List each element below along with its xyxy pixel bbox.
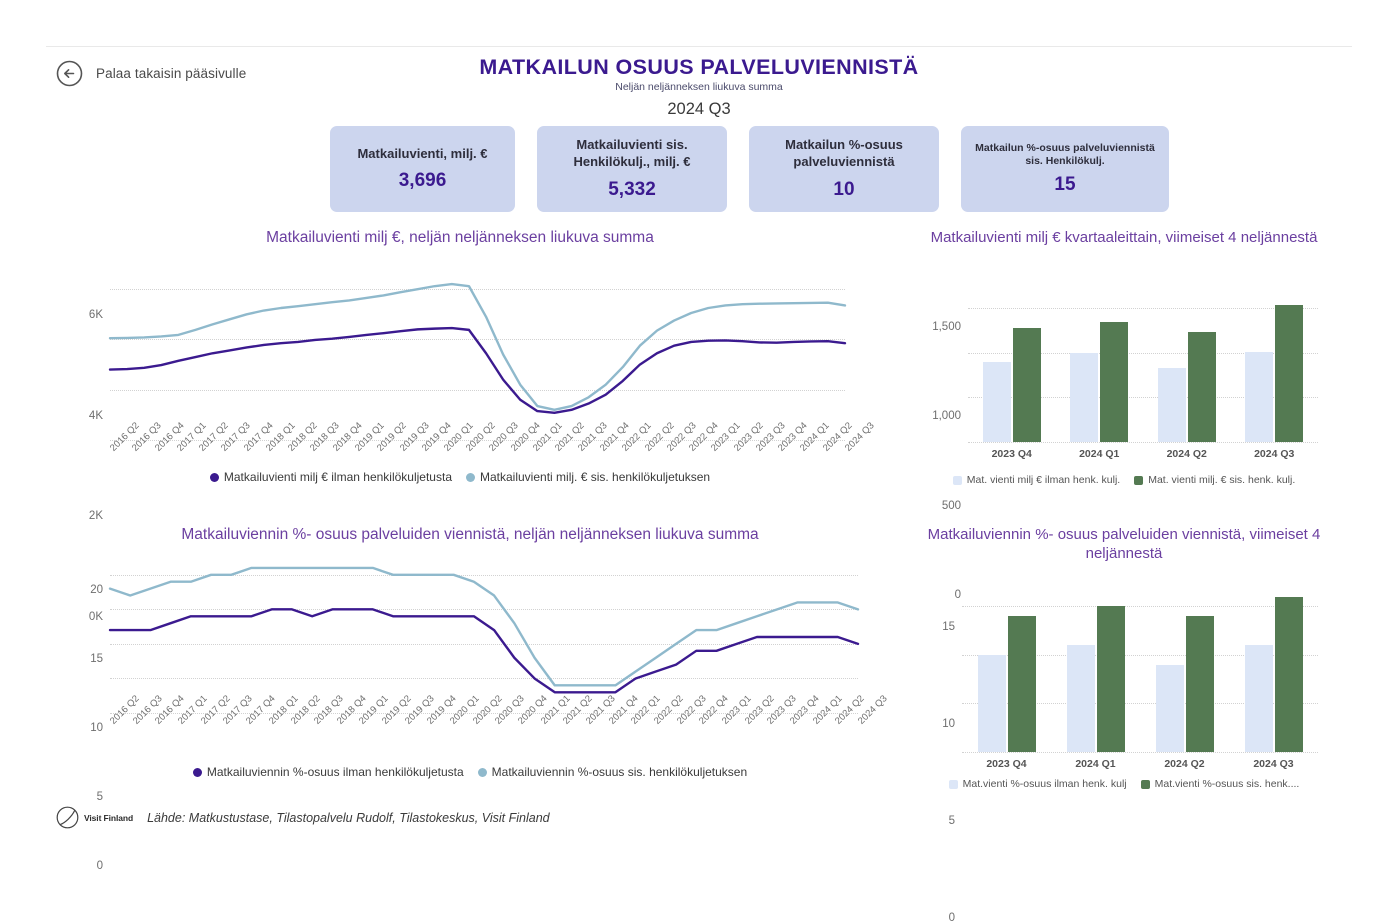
visit-finland-logo: Visit Finland [56,806,133,829]
line-series [110,609,858,692]
bar-group [1158,332,1216,442]
legend-item[interactable]: Matkailuviennin %-osuus sis. henkilökulj… [478,765,747,779]
bar-series-group [962,587,1318,752]
bar[interactable] [1013,328,1041,442]
legend-label: Matkailuvienti milj € ilman henkilökulje… [224,470,452,484]
chart-panel-export-bar: Matkailuvienti milj € kvartaaleittain, v… [900,228,1348,498]
bar-group [1245,305,1303,442]
bar[interactable] [1245,645,1273,752]
kpi-value: 10 [833,179,854,201]
bar[interactable] [1100,322,1128,442]
y-axis-tick-label: 2K [89,510,103,522]
legend-swatch-icon [949,780,958,789]
x-axis-tick-label: 2024 Q2 [1143,448,1231,460]
x-axis-tick-label: 2023 Q4 [968,448,1056,460]
bar[interactable] [1097,606,1125,752]
bar[interactable] [1245,352,1273,442]
bar[interactable] [1070,353,1098,442]
legend-swatch-icon [953,476,962,485]
page-title: MATKAILUN OSUUS PALVELUVIENNISTÄ [0,56,1398,80]
legend-label: Matkailuvienti milj. € sis. henkilökulje… [480,470,710,484]
header-divider [46,46,1352,47]
bar[interactable] [978,655,1006,752]
bar-group [1067,606,1125,752]
bar[interactable] [1186,616,1214,752]
kpi-value: 5,332 [608,179,656,201]
chart-title: Matkailuvienti milj € kvartaaleittain, v… [900,228,1348,247]
y-axis-tick-label: 20 [90,584,103,596]
chart-legend: Mat.vienti %-osuus ilman henk. kuljMat.v… [900,778,1348,790]
line-series-group [110,561,858,713]
visit-finland-wordmark: Visit Finland [84,813,133,823]
bar[interactable] [1008,616,1036,752]
line-series [110,284,845,410]
chart-title: Matkailuviennin %- osuus palveluiden vie… [900,525,1348,563]
y-axis-tick-label: 15 [90,653,103,665]
y-axis-tick-label: 15 [942,621,955,633]
y-axis-tick-label: 500 [942,500,961,512]
kpi-card-share-incl-transport[interactable]: Matkailun %-osuus palveluviennistä sis. … [961,126,1169,212]
legend-swatch-icon [478,768,487,777]
chart-legend: Matkailuviennin %-osuus ilman henkilökul… [60,765,880,779]
legend-label: Mat. vienti milj. € sis. henk. kulj. [1148,474,1295,486]
source-note: Lähde: Matkustustase, Tilastopalvelu Rud… [147,811,550,825]
bar-group [1156,616,1214,752]
plot-area-export-line: 0K2K4K6K [110,264,845,440]
bar[interactable] [1158,368,1186,442]
plot-area-share-line: 05101520 [110,561,858,713]
legend-item[interactable]: Mat. vienti milj € ilman henk. kulj. [953,474,1120,486]
line-series-group [110,264,845,440]
chart-title: Matkailuviennin %- osuus palveluiden vie… [60,525,880,545]
kpi-card-group: Matkailuvienti, milj. € 3,696 Matkailuvi… [330,126,1169,212]
page-header: MATKAILUN OSUUS PALVELUVIENNISTÄ Neljän … [0,56,1398,119]
legend-swatch-icon [1134,476,1143,485]
footer: Visit Finland Lähde: Matkustustase, Tila… [56,806,550,829]
legend-label: Matkailuviennin %-osuus ilman henkilökul… [207,765,464,779]
y-axis-tick-label: 4K [89,410,103,422]
chart-title: Matkailuvienti milj €, neljän neljänneks… [60,228,860,248]
y-axis-tick-label: 10 [942,718,955,730]
legend-label: Mat.vienti %-osuus ilman henk. kulj [963,778,1127,790]
period-label: 2024 Q3 [0,100,1398,119]
bar-group [1070,322,1128,442]
y-axis-tick-label: 0 [97,860,103,872]
kpi-card-export[interactable]: Matkailuvienti, milj. € 3,696 [330,126,515,212]
kpi-card-share[interactable]: Matkailun %-osuus palveluviennistä 10 [749,126,939,212]
y-axis-tick-label: 5 [97,791,103,803]
chart-legend: Matkailuvienti milj € ilman henkilökulje… [60,470,860,484]
kpi-label: Matkailun %-osuus palveluviennistä sis. … [971,142,1159,169]
legend-swatch-icon [466,473,475,482]
plot-area-export-bar: 05001,0001,500 [968,290,1318,442]
chart-panel-share-bar: Matkailuviennin %- osuus palveluiden vie… [900,525,1348,800]
page-subtitle: Neljän neljänneksen liukuva summa [0,81,1398,93]
bar[interactable] [1275,305,1303,442]
kpi-label: Matkailun %-osuus palveluviennistä [759,137,929,170]
y-axis-tick-label: 6K [89,309,103,321]
grid-line: 0 [962,752,1318,753]
bar[interactable] [1275,597,1303,752]
bar-series-group [968,290,1318,442]
legend-label: Matkailuviennin %-osuus sis. henkilökulj… [492,765,747,779]
x-axis-tick-label: 2024 Q3 [1229,758,1318,770]
kpi-label: Matkailuvienti, milj. € [357,146,487,163]
legend-item[interactable]: Mat. vienti milj. € sis. henk. kulj. [1134,474,1295,486]
chart-panel-share-line: Matkailuviennin %- osuus palveluiden vie… [60,525,880,795]
y-axis-tick-label: 5 [949,815,955,827]
bar[interactable] [1067,645,1095,752]
legend-label: Mat. vienti milj € ilman henk. kulj. [967,474,1120,486]
plot-area-share-bar: 051015 [962,587,1318,752]
grid-line: 0 [968,442,1318,443]
x-axis-tick-label: 2024 Q2 [1140,758,1229,770]
legend-swatch-icon [1141,780,1150,789]
legend-item[interactable]: Mat.vienti %-osuus ilman henk. kulj [949,778,1127,790]
x-axis-tick-label: 2024 Q1 [1051,758,1140,770]
legend-swatch-icon [193,768,202,777]
bar-group [978,616,1036,752]
x-axis-tick-label: 2024 Q1 [1056,448,1144,460]
bar[interactable] [1156,665,1184,752]
kpi-value: 15 [1054,174,1075,196]
bar[interactable] [1188,332,1216,442]
kpi-label: Matkailuvienti sis. Henkilökulj., milj. … [547,137,717,170]
legend-label: Mat.vienti %-osuus sis. henk.... [1155,778,1300,790]
legend-item[interactable]: Mat.vienti %-osuus sis. henk.... [1141,778,1300,790]
legend-swatch-icon [210,473,219,482]
bar-group [1245,597,1303,752]
bar[interactable] [983,362,1011,442]
x-axis-tick-label: 2024 Q3 [1231,448,1319,460]
legend-item[interactable]: Matkailuvienti milj € ilman henkilökulje… [210,470,452,484]
chart-panel-export-line: Matkailuvienti milj €, neljän neljänneks… [60,228,860,498]
legend-item[interactable]: Matkailuviennin %-osuus ilman henkilökul… [193,765,464,779]
kpi-card-export-incl-transport[interactable]: Matkailuvienti sis. Henkilökulj., milj. … [537,126,727,212]
bar-group [983,328,1041,442]
visit-finland-mark-icon [56,806,79,829]
dashboard-page: Palaa takaisin pääsivulle MATKAILUN OSUU… [0,0,1398,910]
chart-legend: Mat. vienti milj € ilman henk. kulj.Mat.… [900,474,1348,486]
x-axis-tick-label: 2023 Q4 [962,758,1051,770]
y-axis-tick-label: 10 [90,722,103,734]
legend-item[interactable]: Matkailuvienti milj. € sis. henkilökulje… [466,470,710,484]
y-axis-tick-label: 0 [949,912,955,924]
line-series [110,328,845,413]
kpi-value: 3,696 [399,170,447,192]
y-axis-tick-label: 1,000 [932,410,961,422]
line-series [110,568,858,685]
y-axis-tick-label: 1,500 [932,321,961,333]
